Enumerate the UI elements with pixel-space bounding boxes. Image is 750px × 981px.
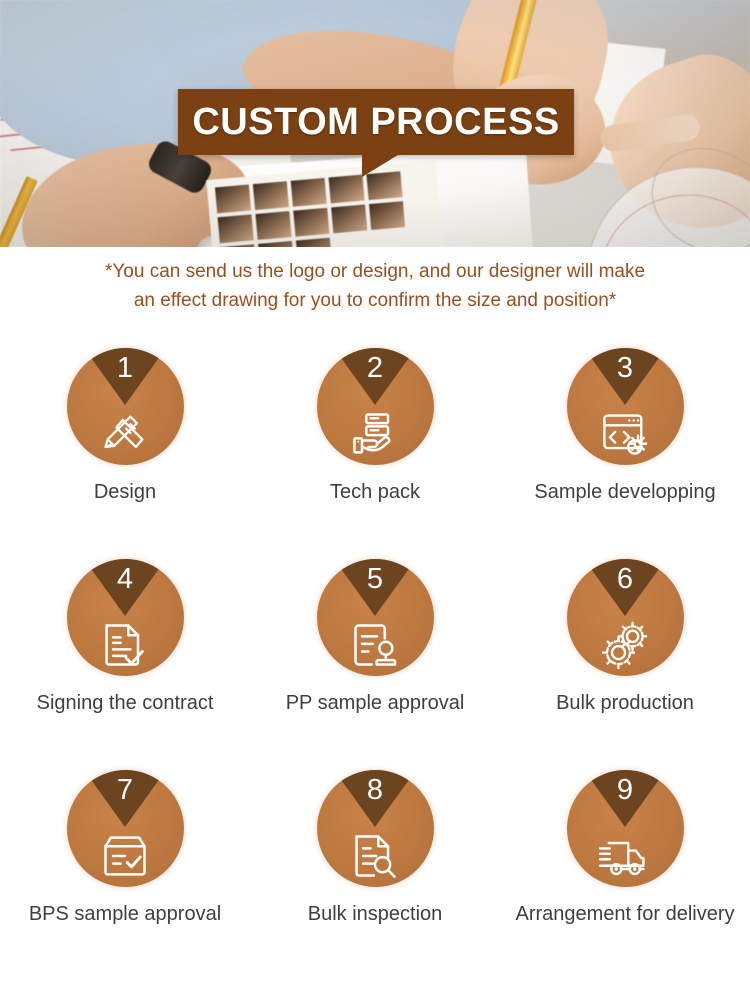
browser-code-gear-icon bbox=[599, 408, 651, 460]
step-label-4: Signing the contract bbox=[2, 690, 248, 716]
process-step-9: 9 Arrangement for delivery bbox=[500, 770, 750, 981]
step-number-6: 6 bbox=[567, 565, 684, 594]
step-label-9: Arrangement for delivery bbox=[502, 901, 748, 927]
process-step-7: 7 BPS sample approval bbox=[0, 770, 250, 981]
step-label-2: Tech pack bbox=[252, 479, 498, 505]
custom-process-title-banner: CUSTOM PROCESS bbox=[178, 89, 574, 155]
process-step-2: 2 Tech pack bbox=[250, 348, 500, 559]
subtitle-note: *You can send us the logo or design, and… bbox=[0, 258, 750, 315]
box-check-icon bbox=[99, 830, 151, 882]
process-steps-grid: 1 Design 2 bbox=[0, 348, 750, 981]
step-number-3: 3 bbox=[567, 354, 684, 383]
pencil-ruler-icon bbox=[99, 408, 151, 460]
step-badge-4: 4 bbox=[67, 559, 184, 676]
process-step-3: 3 Sample developp bbox=[500, 348, 750, 559]
document-stamp-icon bbox=[349, 619, 401, 671]
hero-banner-photo: CUSTOM PROCESS bbox=[0, 0, 750, 247]
subtitle-line-1: *You can send us the logo or design, and… bbox=[0, 258, 750, 287]
step-badge-7: 7 bbox=[67, 770, 184, 887]
step-number-4: 4 bbox=[67, 565, 184, 594]
page-title: CUSTOM PROCESS bbox=[192, 103, 559, 141]
step-label-1: Design bbox=[2, 479, 248, 505]
step-label-3: Sample developping bbox=[502, 479, 748, 505]
document-check-icon bbox=[99, 619, 151, 671]
step-number-7: 7 bbox=[67, 776, 184, 805]
step-number-1: 1 bbox=[67, 354, 184, 383]
document-magnifier-icon bbox=[349, 830, 401, 882]
step-badge-2: 2 bbox=[317, 348, 434, 465]
process-step-8: 8 Bulk inspection bbox=[250, 770, 500, 981]
step-badge-1: 1 bbox=[67, 348, 184, 465]
step-badge-6: 6 bbox=[567, 559, 684, 676]
step-number-9: 9 bbox=[567, 776, 684, 805]
step-badge-9: 9 bbox=[567, 770, 684, 887]
step-label-7: BPS sample approval bbox=[2, 901, 248, 927]
subtitle-line-2: an effect drawing for you to confirm the… bbox=[0, 287, 750, 316]
custom-process-page: CUSTOM PROCESS *You can send us the logo… bbox=[0, 0, 750, 973]
step-badge-5: 5 bbox=[317, 559, 434, 676]
banner-tail-shape bbox=[362, 155, 398, 177]
process-step-1: 1 Design bbox=[0, 348, 250, 559]
step-number-2: 2 bbox=[317, 354, 434, 383]
step-badge-8: 8 bbox=[317, 770, 434, 887]
gears-icon bbox=[599, 619, 651, 671]
step-badge-3: 3 bbox=[567, 348, 684, 465]
step-label-8: Bulk inspection bbox=[252, 901, 498, 927]
step-number-8: 8 bbox=[317, 776, 434, 805]
step-label-6: Bulk production bbox=[502, 690, 748, 716]
step-label-5: PP sample approval bbox=[252, 690, 498, 716]
delivery-truck-icon bbox=[599, 830, 651, 882]
process-step-5: 5 PP sample approval bbox=[250, 559, 500, 770]
hand-documents-icon bbox=[349, 408, 401, 460]
process-step-6: 6 Bul bbox=[500, 559, 750, 770]
process-step-4: 4 Signing the contract bbox=[0, 559, 250, 770]
step-number-5: 5 bbox=[317, 565, 434, 594]
